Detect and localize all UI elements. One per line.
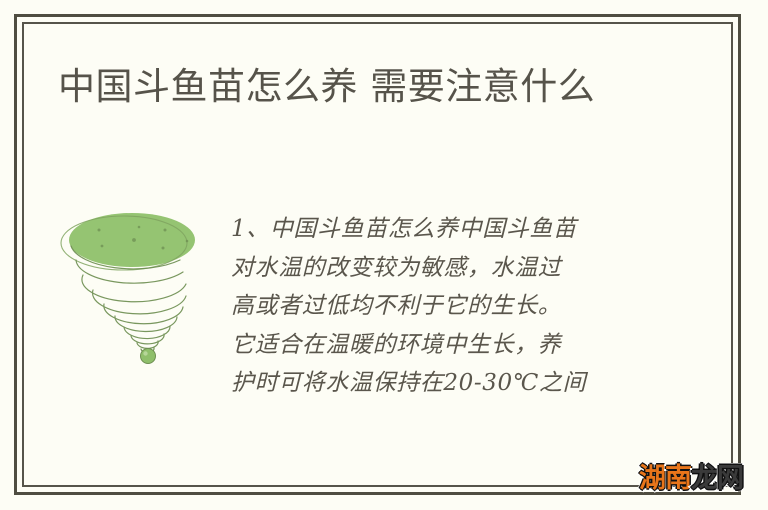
body-line: 它适合在温暖的环境中生长，养 [231,326,663,365]
watermark-char: 网 [717,462,743,496]
page-title: 中国斗鱼苗怎么养 需要注意什么 [58,62,698,112]
body-line: 对水温的改变较为敏感，水温过 [231,249,663,288]
site-watermark: 湖 南 龙 网 [639,462,743,496]
article-page: 中国斗鱼苗怎么养 需要注意什么 [0,0,768,510]
body-line: 高或者过低均不利于它的生长。 [231,287,663,326]
watermark-char: 湖 [639,462,665,496]
tornado-tip-ball [141,349,156,364]
watermark-char: 南 [665,462,691,496]
green-tornado-illustration [52,196,212,368]
body-line: 护时可将水温保持在20-30℃之间 [231,364,663,403]
watermark-char: 龙 [691,462,717,496]
body-line: 1、中国斗鱼苗怎么养中国斗鱼苗 [231,210,663,249]
article-body: 1、中国斗鱼苗怎么养中国斗鱼苗 对水温的改变较为敏感，水温过 高或者过低均不利于… [231,210,663,403]
